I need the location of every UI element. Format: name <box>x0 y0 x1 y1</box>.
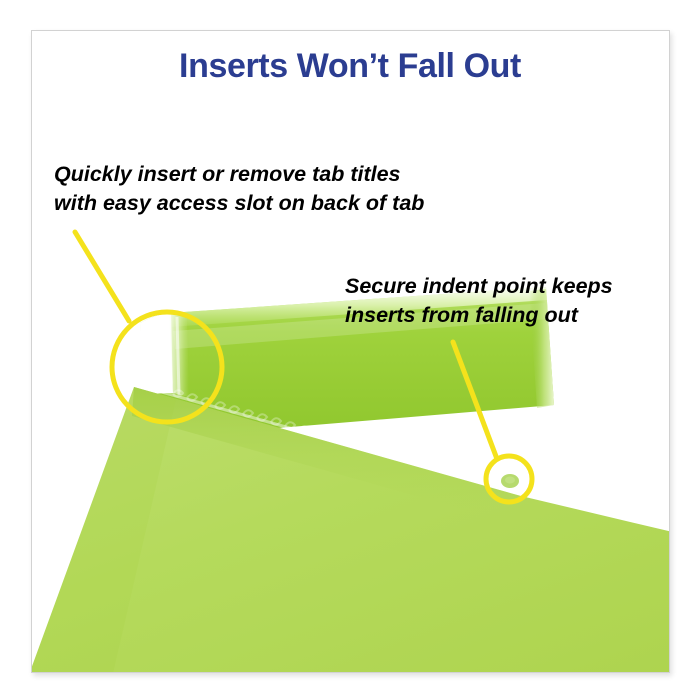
product-illustration <box>32 31 669 672</box>
secure-indent-point <box>501 474 519 488</box>
callout-caption-secure-indent-point: Secure indent point keeps inserts from f… <box>345 272 613 330</box>
callout-left-line-2: with easy access slot on back of tab <box>54 189 424 218</box>
callout-right-line-1: Secure indent point keeps <box>345 272 613 301</box>
product-artwork <box>32 31 669 672</box>
page-title: Inserts Won’t Fall Out <box>0 45 700 87</box>
product-feature-image: Inserts Won’t Fall Out Quickly insert or… <box>0 0 700 700</box>
callout-left-line-1: Quickly insert or remove tab titles <box>54 160 424 189</box>
product-photo-clip <box>32 31 669 672</box>
divider-sheet <box>32 387 669 672</box>
callout-caption-easy-access-slot: Quickly insert or remove tab titles with… <box>54 160 424 218</box>
tab-slot-inner-line <box>177 317 179 395</box>
callout-right-line-2: inserts from falling out <box>345 301 613 330</box>
leader-line-left[interactable] <box>75 232 129 321</box>
product-photo-frame <box>31 30 670 673</box>
